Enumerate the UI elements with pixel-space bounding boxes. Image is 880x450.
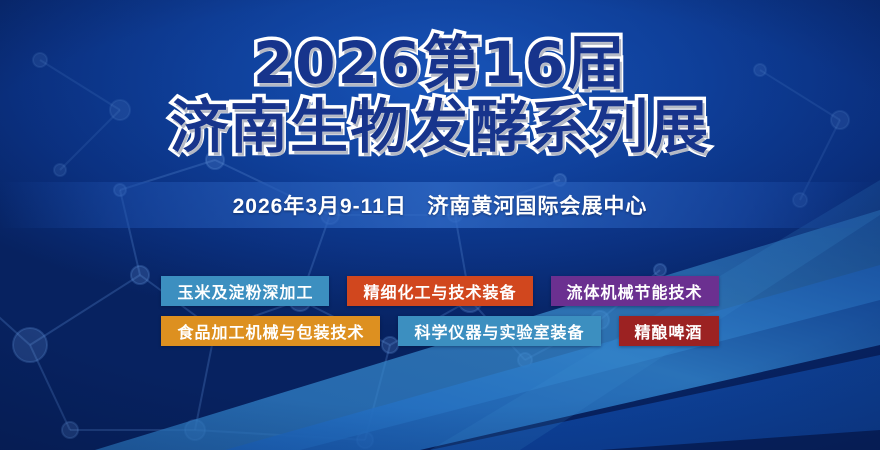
title-line-2: 济南生物发酵系列展 [170,98,710,156]
topic-tag-group: 玉米及淀粉深加工 精细化工与技术装备 流体机械节能技术 食品加工机械与包装技术 … [161,276,718,346]
topic-tag[interactable]: 精酿啤酒 [619,316,719,346]
topic-tag[interactable]: 精细化工与技术装备 [347,276,532,306]
title-line-1: 2026第16届 [170,34,710,92]
exhibition-banner: 2026第16届 济南生物发酵系列展 2026年3月9-11日 济南黄河国际会展… [0,0,880,450]
topic-tag[interactable]: 玉米及淀粉深加工 [161,276,329,306]
title-block: 2026第16届 济南生物发酵系列展 [170,34,710,156]
topic-tag[interactable]: 食品加工机械与包装技术 [161,316,380,346]
topic-tag-row-2: 食品加工机械与包装技术 科学仪器与实验室装备 精酿啤酒 [161,316,718,346]
date-and-venue-text: 2026年3月9-11日 济南黄河国际会展中心 [233,190,648,220]
topic-tag[interactable]: 流体机械节能技术 [551,276,719,306]
topic-tag-row-1: 玉米及淀粉深加工 精细化工与技术装备 流体机械节能技术 [161,276,718,306]
subtitle-bar: 2026年3月9-11日 济南黄河国际会展中心 [0,182,880,228]
banner-content: 2026第16届 济南生物发酵系列展 2026年3月9-11日 济南黄河国际会展… [0,0,880,450]
topic-tag[interactable]: 科学仪器与实验室装备 [398,316,600,346]
